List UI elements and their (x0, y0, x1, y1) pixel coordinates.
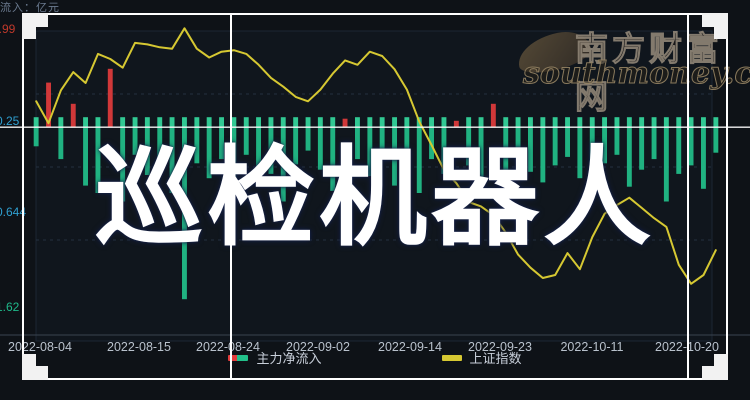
fund-flow-chart: 2022-08-042022-08-152022-08-242022-09-02… (0, 13, 750, 375)
selection-handle-right-bottom[interactable] (714, 354, 728, 380)
chart-legend: 主力净流入 上证指数 (0, 348, 750, 367)
legend-swatch-sse-index (442, 355, 462, 361)
legend-item-net-inflow[interactable]: 主力净流入 (228, 348, 321, 367)
crosshair-vertical-left[interactable] (230, 13, 232, 380)
legend-item-sse-index[interactable]: 上证指数 (442, 348, 522, 367)
y-axis-tick-4: -1.62 (0, 300, 19, 314)
screenshot-stage: 流入：亿元 2022-08-042022-08-152022-08-242022… (0, 0, 750, 400)
selection-handle-left-top[interactable] (22, 13, 36, 39)
y-axis-tick-3: -0.644 (0, 205, 26, 219)
selection-handle-right-top[interactable] (714, 13, 728, 39)
legend-label-net-inflow: 主力净流入 (256, 348, 321, 367)
y-axis-tick-2: -0.25 (0, 114, 19, 128)
crosshair-vertical-right[interactable] (687, 13, 689, 380)
selection-handle-left-bottom[interactable] (22, 354, 36, 380)
chart-canvas: 2022-08-042022-08-152022-08-242022-09-02… (0, 13, 750, 375)
legend-label-sse-index: 上证指数 (470, 348, 522, 367)
y-axis-tick-0: 0.99 (0, 22, 15, 36)
